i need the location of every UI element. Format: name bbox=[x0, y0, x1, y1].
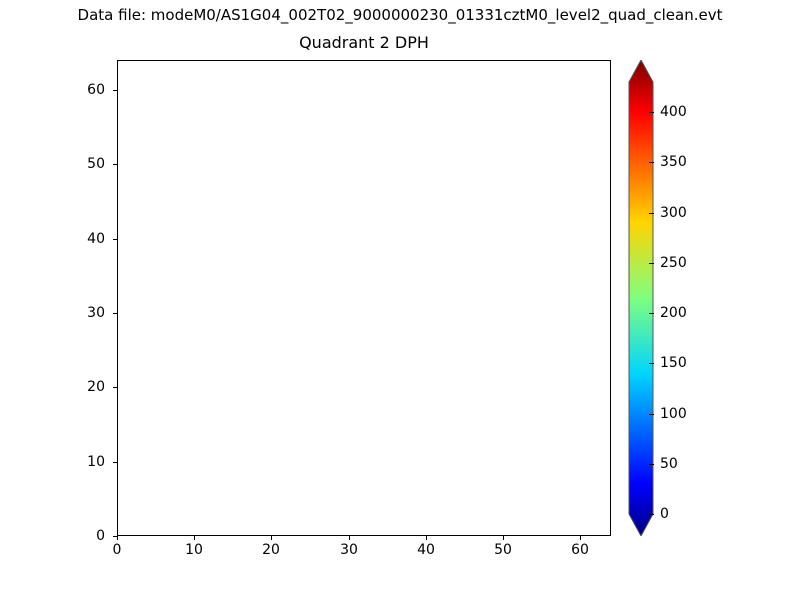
x-tick-mark bbox=[194, 536, 195, 540]
y-tick-mark bbox=[113, 462, 117, 463]
colorbar-tick-label: 150 bbox=[660, 355, 687, 371]
x-tick-label: 60 bbox=[560, 542, 600, 558]
colorbar-tick-label: 100 bbox=[660, 406, 687, 422]
y-tick-mark bbox=[113, 313, 117, 314]
x-tick-mark bbox=[503, 536, 504, 540]
y-tick-label: 40 bbox=[65, 231, 105, 247]
y-tick-mark bbox=[113, 387, 117, 388]
x-tick-label: 40 bbox=[406, 542, 446, 558]
figure-suptitle: Data file: modeM0/AS1G04_002T02_90000002… bbox=[0, 5, 800, 25]
colorbar-tick-mark bbox=[649, 112, 654, 113]
x-tick-mark bbox=[271, 536, 272, 540]
y-tick-label: 10 bbox=[65, 454, 105, 470]
colorbar-tick-label: 250 bbox=[660, 255, 687, 271]
colorbar-tick-label: 200 bbox=[660, 305, 687, 321]
x-tick-label: 30 bbox=[329, 542, 369, 558]
x-tick-mark bbox=[426, 536, 427, 540]
y-tick-label: 30 bbox=[65, 305, 105, 321]
axes-title: Quadrant 2 DPH bbox=[117, 33, 611, 53]
colorbar-tick-label: 300 bbox=[660, 205, 687, 221]
x-tick-label: 50 bbox=[483, 542, 523, 558]
y-tick-label: 60 bbox=[65, 82, 105, 98]
y-tick-mark bbox=[113, 90, 117, 91]
y-tick-mark bbox=[113, 239, 117, 240]
y-tick-label: 0 bbox=[65, 528, 105, 544]
colorbar-tick-label: 400 bbox=[660, 104, 687, 120]
heatmap-axes bbox=[117, 60, 611, 536]
colorbar-tick-mark bbox=[649, 363, 654, 364]
colorbar-tick-mark bbox=[649, 414, 654, 415]
colorbar-tick-mark bbox=[649, 313, 654, 314]
x-tick-label: 20 bbox=[251, 542, 291, 558]
colorbar-tick-mark bbox=[649, 162, 654, 163]
x-tick-mark bbox=[349, 536, 350, 540]
x-tick-label: 0 bbox=[97, 542, 137, 558]
colorbar-tick-label: 50 bbox=[660, 456, 678, 472]
detector-pixel-heatmap bbox=[118, 61, 610, 535]
colorbar-tick-mark bbox=[649, 263, 654, 264]
y-tick-mark bbox=[113, 536, 117, 537]
y-tick-mark bbox=[113, 164, 117, 165]
x-tick-label: 10 bbox=[174, 542, 214, 558]
x-tick-mark bbox=[117, 536, 118, 540]
matplotlib-figure: Data file: modeM0/AS1G04_002T02_90000002… bbox=[0, 0, 800, 600]
colorbar-tick-label: 350 bbox=[660, 154, 687, 170]
y-tick-label: 50 bbox=[65, 156, 105, 172]
x-tick-mark bbox=[580, 536, 581, 540]
colorbar-tick-mark bbox=[649, 464, 654, 465]
y-tick-label: 20 bbox=[65, 379, 105, 395]
colorbar-tick-mark bbox=[649, 514, 654, 515]
colorbar-tick-mark bbox=[649, 213, 654, 214]
colorbar-tick-label: 0 bbox=[660, 506, 669, 522]
